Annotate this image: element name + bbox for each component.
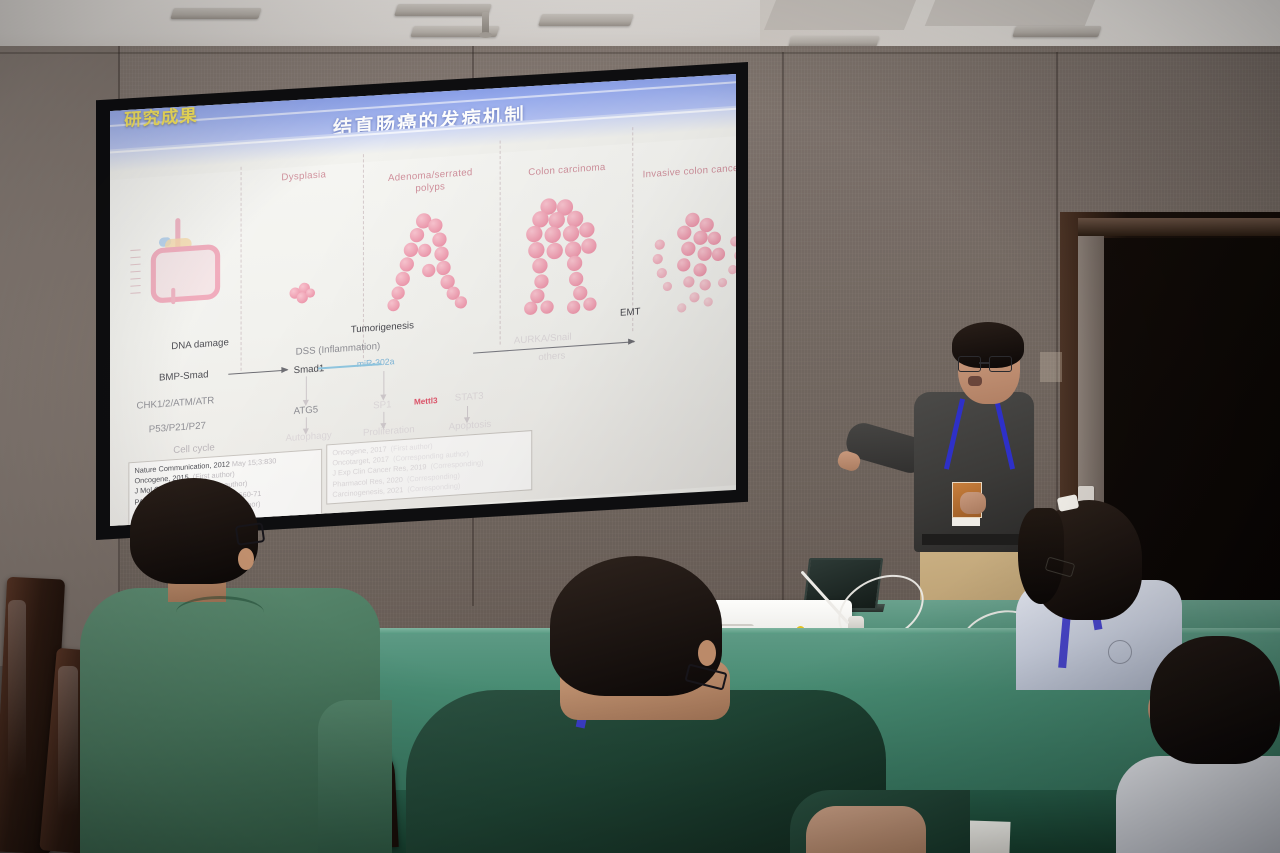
stage-label-colon-carcinoma: Colon carcinoma bbox=[506, 160, 628, 181]
ceiling-vent bbox=[394, 4, 492, 16]
polo-collar bbox=[176, 596, 264, 629]
pathway-aurka-snail: AURKA/Snail bbox=[514, 331, 572, 346]
pathway-emt: EMT bbox=[620, 306, 640, 319]
stage-divider bbox=[500, 141, 501, 345]
cell-cluster-invasive bbox=[647, 209, 736, 330]
pathway-sp1: SP1 bbox=[373, 399, 391, 412]
wall-seam bbox=[0, 52, 1280, 54]
door-header bbox=[1078, 218, 1280, 236]
citation-box-right: Oncogene, 2017 (First author) Oncotarget… bbox=[326, 430, 532, 505]
projection-screen: 研究成果 结直肠癌的发病机制 Dysplasia Adenoma/serrate… bbox=[110, 74, 736, 526]
chair-highlight bbox=[58, 666, 78, 816]
pathway-stat3: STAT3 bbox=[455, 391, 484, 404]
pathway-others: others bbox=[538, 350, 565, 363]
arrow-atg5-to-autophagy bbox=[306, 417, 307, 429]
ceiling-vent bbox=[1012, 26, 1102, 37]
stage-divider bbox=[241, 167, 242, 371]
pathway-dss: DSS (Inflammation) bbox=[296, 341, 381, 358]
cell-cluster-dysplasia bbox=[290, 282, 317, 304]
pathway-smad1: Smad1 bbox=[294, 363, 325, 376]
ceiling-panel bbox=[925, 0, 1096, 26]
sprinkler-head bbox=[482, 12, 489, 34]
presentation-slide: 研究成果 结直肠癌的发病机制 Dysplasia Adenoma/serrate… bbox=[110, 74, 736, 526]
green-polo-ear bbox=[238, 548, 254, 570]
anatomy-rectum bbox=[171, 288, 175, 305]
anatomy-colon bbox=[151, 244, 220, 304]
stage-label-invasive: Invasive colon cancer bbox=[628, 161, 736, 182]
pathway-dna-damage: DNA damage bbox=[171, 337, 229, 352]
chair-highlight bbox=[8, 600, 26, 780]
pathway-cell-cycle: Cell cycle bbox=[173, 442, 214, 456]
ceiling-vent bbox=[538, 14, 634, 26]
conference-room-photo: 研究成果 结直肠癌的发病机制 Dysplasia Adenoma/serrate… bbox=[0, 0, 1280, 853]
pathway-chk: CHK1/2/ATM/ATR bbox=[137, 395, 215, 412]
cell-cluster-adenoma bbox=[387, 210, 475, 324]
colon-anatomy-illustration bbox=[145, 213, 227, 315]
pathway-mettl3: Mettl3 bbox=[414, 396, 438, 407]
arrow-smad1-to-atg5 bbox=[306, 376, 307, 401]
wall-seam bbox=[782, 52, 784, 612]
anatomy-ticks bbox=[130, 247, 144, 297]
presenter-lanyard bbox=[948, 398, 1010, 476]
pathway-proliferation: Proliferation bbox=[363, 424, 415, 439]
glasses-icon bbox=[235, 522, 266, 546]
arrow-stat3-to-apoptosis bbox=[467, 406, 468, 418]
foreground-shirt bbox=[1116, 756, 1280, 853]
pathway-bmp-smad: BMP-Smad bbox=[159, 369, 209, 384]
pathway-tumorigenesis: Tumorigenesis bbox=[351, 320, 414, 336]
ceiling-vent bbox=[170, 8, 262, 19]
stage-divider bbox=[632, 127, 633, 331]
presenter-belt bbox=[922, 534, 1028, 545]
ceiling-panel bbox=[764, 0, 916, 30]
foreground-hair bbox=[1150, 636, 1280, 764]
shirt-logo bbox=[1108, 640, 1132, 664]
cell-cluster-carcinoma bbox=[516, 194, 614, 323]
dark-green-hand bbox=[806, 806, 926, 853]
woman-hair-side bbox=[1018, 508, 1064, 604]
pathway-p53: P53/P21/P27 bbox=[149, 420, 206, 435]
green-polo-arm bbox=[318, 700, 392, 853]
arrow-to-sp1 bbox=[383, 371, 384, 396]
presenter-right-hand bbox=[960, 492, 986, 514]
arrow-sp1-to-proliferation bbox=[383, 412, 384, 424]
presenter-mouth bbox=[968, 376, 982, 386]
dark-green-ear bbox=[698, 640, 716, 666]
arrow-bmp-to-smad1 bbox=[228, 370, 287, 376]
glasses-icon bbox=[958, 356, 1010, 370]
wall-plate bbox=[1040, 352, 1062, 382]
pathway-atg5: ATG5 bbox=[294, 404, 319, 417]
stage-label-dysplasia: Dysplasia bbox=[253, 167, 355, 186]
